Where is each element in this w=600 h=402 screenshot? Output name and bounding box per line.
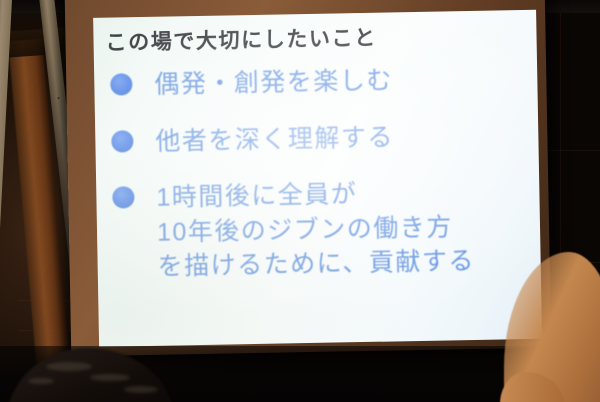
bullet-line: 偶発・創発を楽しむ [154,64,393,103]
bullet-text-3: 1時間後に全員が 10年後のジブンの働き方 を描けるために、貢献する [156,175,475,284]
slide-title: この場で大切にしたいこと [105,24,536,55]
bullet-line: 1時間後に全員が [156,175,474,215]
bullet-circle-icon [111,130,133,152]
screen-surface: この場で大切にしたいこと 偶発・創発を楽しむ 他者を深く理解する [93,10,542,347]
presentation-slide: この場で大切にしたいこと 偶発・創発を楽しむ 他者を深く理解する [93,10,542,347]
wall-seam [548,150,600,151]
bullet-text-1: 偶発・創発を楽しむ [154,64,393,103]
bullet-item-3: 1時間後に全員が 10年後のジブンの働き方 を描けるために、貢献する [106,174,541,285]
bullet-item-2: 他者を深く理解する [105,117,539,159]
bullet-item-1: 偶発・創発を楽しむ [104,61,538,103]
bullet-line: 10年後のジブンの働き方 [157,210,475,250]
bullet-line: を描けるために、貢献する [157,244,475,284]
photo-scene: この場で大切にしたいこと 偶発・創発を楽しむ 他者を深く理解する [0,0,600,402]
slide-bullet-list: 偶発・創発を楽しむ 他者を深く理解する 1時間後に全員が 10年後の [104,61,541,285]
projection-screen: この場で大切にしたいこと 偶発・創発を楽しむ 他者を深く理解する [65,0,551,356]
bullet-line: 他者を深く理解する [155,120,394,159]
bullet-circle-icon [110,73,132,95]
bullet-circle-icon [112,186,134,208]
bullet-text-2: 他者を深く理解する [155,120,394,159]
